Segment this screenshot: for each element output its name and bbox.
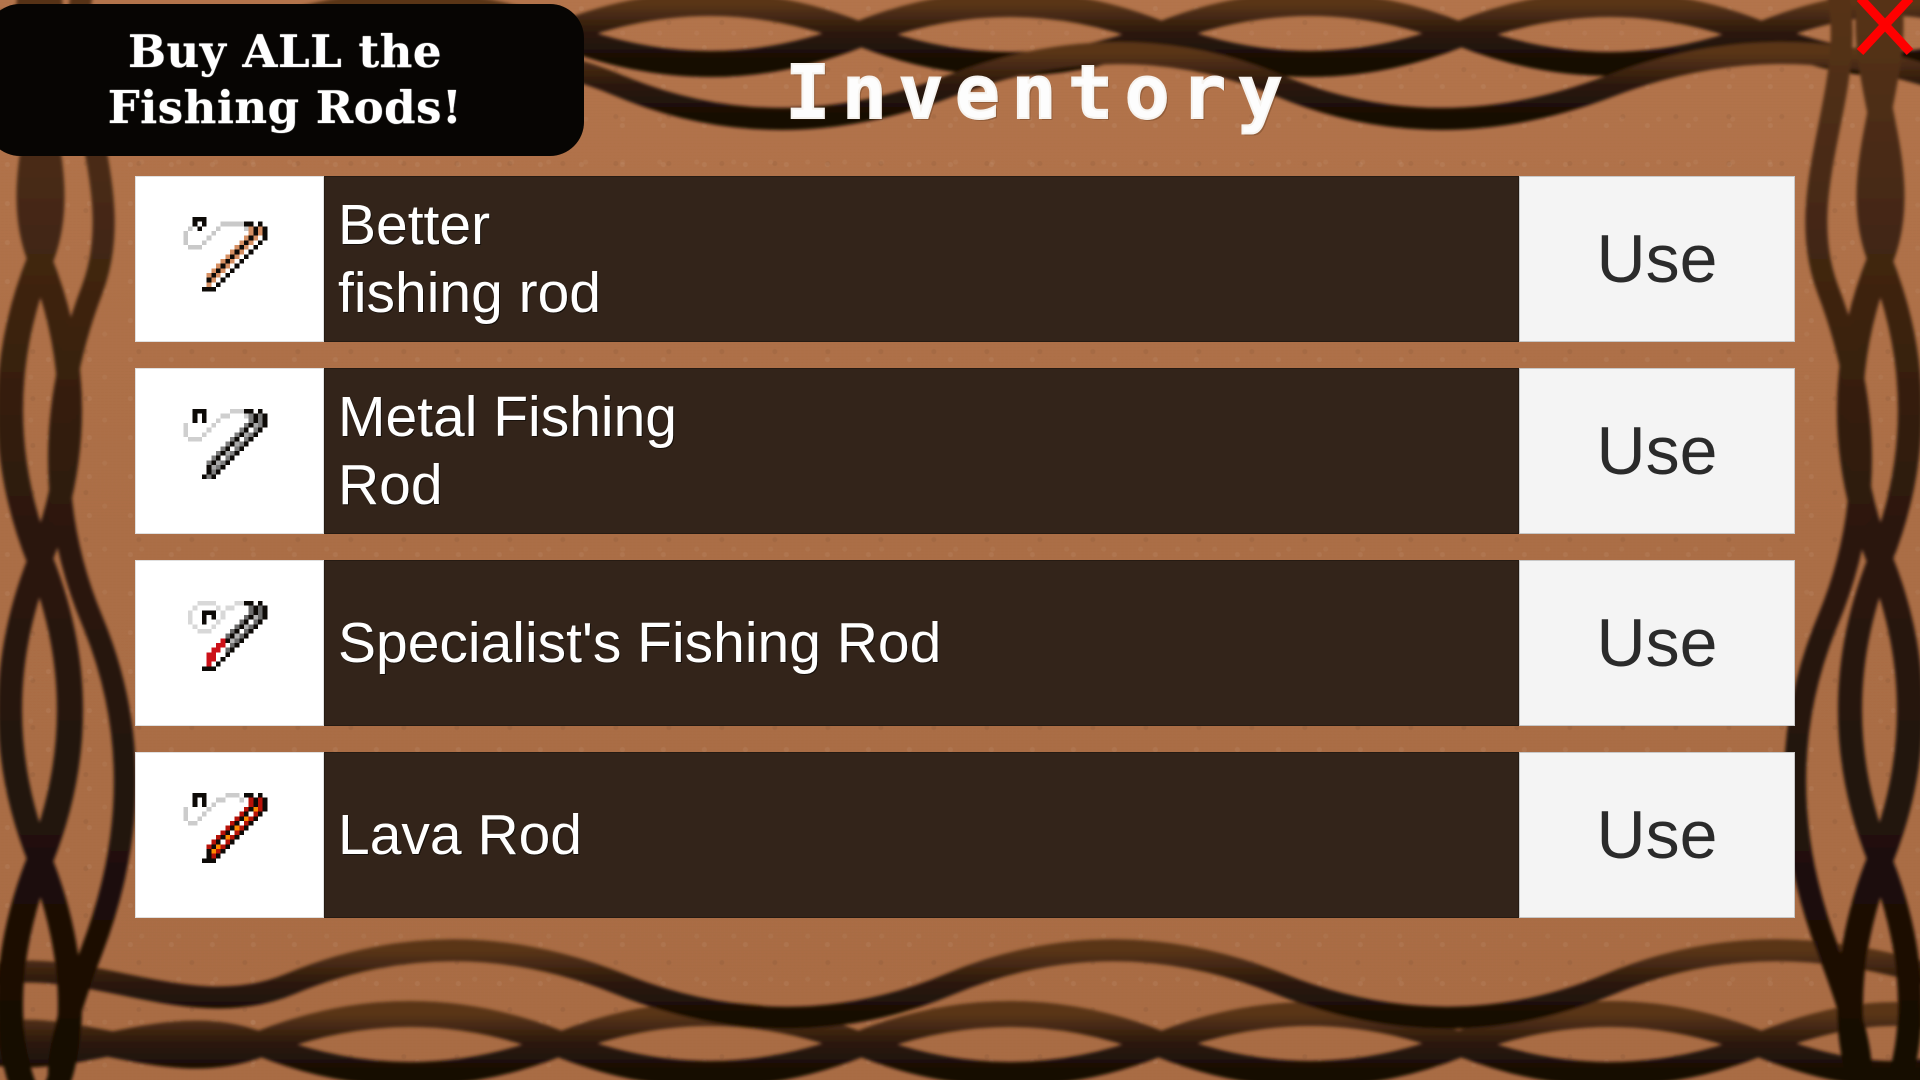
item-name: Specialist's Fishing Rod — [338, 609, 941, 677]
use-button-label: Use — [1597, 800, 1718, 870]
list-item[interactable]: Specialist's Fishing Rod Use — [135, 560, 1795, 726]
item-label-cell: Metal Fishing Rod — [324, 368, 1519, 534]
item-name: Metal Fishing Rod — [338, 383, 677, 519]
promo-banner: Buy ALL the Fishing Rods! — [0, 4, 584, 156]
use-button-label: Use — [1597, 608, 1718, 678]
item-name: Lava Rod — [338, 801, 582, 869]
use-button[interactable]: Use — [1519, 560, 1795, 726]
game-screen: Buy ALL the Fishing Rods! Inventory — [0, 0, 1920, 1080]
item-label-cell: Lava Rod — [324, 752, 1519, 918]
use-button[interactable]: Use — [1519, 176, 1795, 342]
use-button-label: Use — [1597, 224, 1718, 294]
item-icon-cell — [135, 752, 324, 918]
item-name: Better fishing rod — [338, 191, 601, 327]
item-icon-cell — [135, 560, 324, 726]
fishing-rod-specialist-icon — [155, 573, 305, 713]
use-button[interactable]: Use — [1519, 368, 1795, 534]
promo-banner-line-1: Buy ALL the — [128, 24, 442, 80]
inventory-list[interactable]: Better fishing rod Use — [135, 176, 1795, 1006]
fishing-rod-lava-icon — [155, 765, 305, 905]
item-label-cell: Specialist's Fishing Rod — [324, 560, 1519, 726]
use-button[interactable]: Use — [1519, 752, 1795, 918]
list-item[interactable]: Lava Rod Use — [135, 752, 1795, 918]
use-button-label: Use — [1597, 416, 1718, 486]
list-item[interactable]: Metal Fishing Rod Use — [135, 368, 1795, 534]
fishing-rod-metal-icon — [155, 381, 305, 521]
close-x-icon[interactable] — [1852, 0, 1916, 58]
promo-banner-line-2: Fishing Rods! — [108, 80, 463, 136]
fishing-rod-wood-icon — [155, 189, 305, 329]
item-icon-cell — [135, 176, 324, 342]
list-item[interactable]: Better fishing rod Use — [135, 176, 1795, 342]
item-label-cell: Better fishing rod — [324, 176, 1519, 342]
item-icon-cell — [135, 368, 324, 534]
page-title: Inventory — [620, 52, 1460, 134]
